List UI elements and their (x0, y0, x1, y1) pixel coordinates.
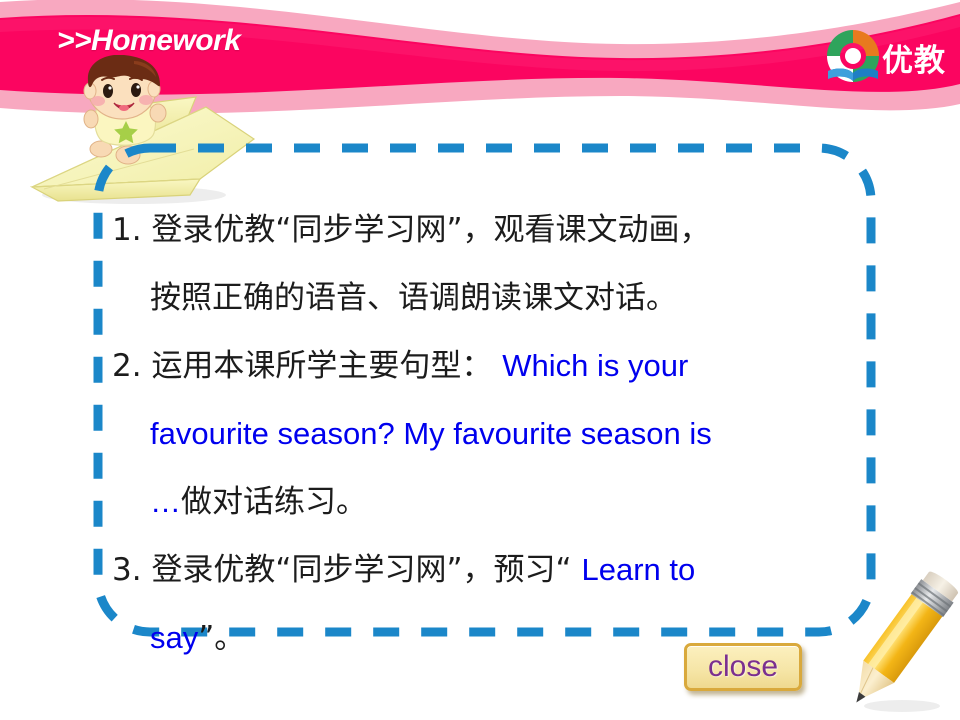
item-3-line-1-en: Learn to (581, 552, 695, 587)
item-2-line-1-en: Which is your (502, 348, 688, 383)
item-1-line-2: 按照正确的语音、语调朗读课文对话。 (150, 280, 677, 316)
homework-list: 1. 登录优教“同步学习网”，观看课文动画， 按照正确的语音、语调朗读课文对话。… (112, 196, 872, 672)
list-item: 2. 运用本课所学主要句型： Which is your favourite s… (112, 332, 872, 536)
yellow-pencil-icon (842, 565, 960, 717)
slide-canvas: >>Homework 优教 (0, 0, 960, 720)
list-item: 1. 登录优教“同步学习网”，观看课文动画， 按照正确的语音、语调朗读课文对话。 (112, 196, 872, 332)
item-number: 2. (112, 348, 142, 384)
close-button-label: close (708, 652, 778, 682)
item-2-line-2-en: favourite season? My favourite season is (150, 416, 712, 451)
close-button[interactable]: close (684, 643, 802, 691)
item-3-line-1-cn: 登录优教“同步学习网”，预习“ (151, 552, 571, 588)
item-2-line-1-cn: 运用本课所学主要句型： (151, 348, 492, 384)
item-2-line-3-cn: 做对话练习。 (181, 484, 367, 520)
item-3-line-2-en: say (150, 620, 198, 655)
item-number: 3. (112, 552, 142, 588)
item-3-line-2-cn: ”。 (198, 620, 245, 656)
page-title: >>Homework (57, 24, 240, 58)
item-1-line-1: 登录优教“同步学习网”，观看课文动画， (151, 212, 710, 248)
brand-logo: 优教 (824, 27, 954, 89)
brand-logo-text: 优教 (882, 35, 946, 80)
item-number: 1. (112, 212, 142, 248)
item-2-line-3-en: … (150, 484, 181, 519)
swirl-book-logo-icon (824, 27, 882, 85)
